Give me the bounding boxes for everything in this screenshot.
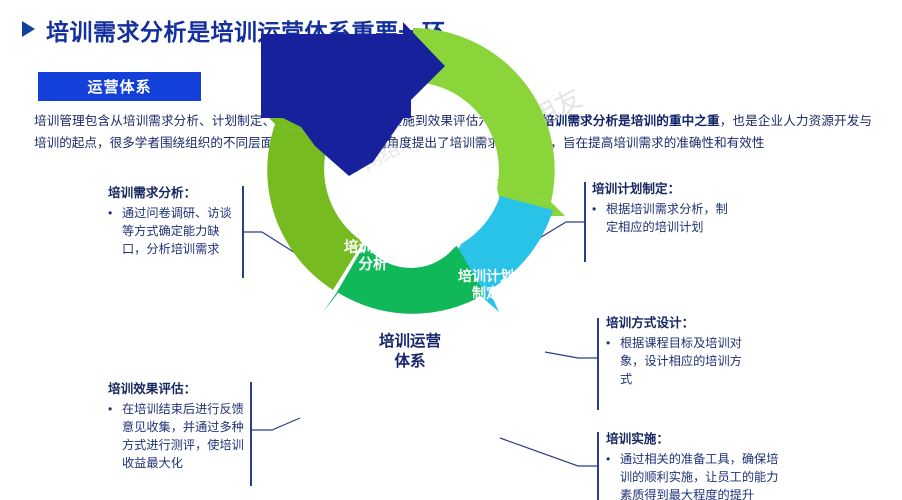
callout-way-text: 根据课程目标及培训对象，设计相应的培训方式: [620, 334, 751, 388]
segment-need-block: [261, 34, 411, 118]
callout-need-title: 培训需求分析：: [108, 182, 236, 201]
wheel-label-way-line2: 设计: [468, 395, 554, 412]
triangle-right-icon: [22, 21, 35, 37]
callout-bar-plan: [584, 182, 586, 262]
wheel-label-plan-line2: 制定: [440, 285, 532, 302]
wheel-label-plan: 培训计划 制定: [440, 268, 532, 302]
callout-eval-title: 培训效果评估：: [108, 378, 244, 397]
wheel-label-need-line1: 培训需求: [318, 240, 428, 257]
callout-bar-eval: [250, 382, 252, 486]
callout-bar-impl: [597, 432, 599, 500]
callout-impl-bullet: •: [606, 450, 620, 500]
callout-plan-text: 根据培训需求分析，制定相应的培训计划: [606, 200, 732, 236]
callout-impl-title: 培训实施：: [606, 428, 786, 447]
wheel-label-need-line2: 分析: [318, 257, 428, 274]
callout-eval-text: 在培训结束后进行反馈意见收集，并通过多种方式进行测评，使培训收益最大化: [122, 400, 244, 472]
callout-bar-need: [242, 186, 244, 278]
wheel-center-label: 培训运营 体系: [360, 332, 460, 372]
callout-plan-title: 培训计划制定：: [592, 178, 732, 197]
callout-eval: 培训效果评估： • 在培训结束后进行反馈意见收集，并通过多种方式进行测评，使培训…: [108, 378, 244, 472]
callout-way-bullet: •: [606, 334, 620, 388]
wheel-label-eval: 培训效果 评估: [284, 338, 368, 372]
callout-bar-way: [597, 318, 599, 410]
wheel-label-way: 培训方式 设计: [468, 378, 554, 412]
callout-impl-text: 通过相关的准备工具，确保培训的顺利实施，让员工的能力素质得到最大程度的提升: [620, 450, 786, 500]
callout-way: 培训方式设计： • 根据课程目标及培训对象，设计相应的培训方式: [606, 312, 751, 388]
wheel-label-impl-line1: 培训实施: [352, 440, 458, 457]
callout-way-title: 培训方式设计：: [606, 312, 751, 331]
wheel-label-need: 培训需求 分析: [318, 240, 428, 274]
callout-eval-bullet: •: [108, 400, 122, 472]
callout-plan: 培训计划制定： • 根据培训需求分析，制定相应的培训计划: [592, 178, 732, 236]
wheel-label-plan-line1: 培训计划: [440, 268, 532, 285]
wheel-label-impl: 培训实施: [352, 440, 458, 457]
callout-need-text: 通过问卷调研、访谈等方式确定能力缺口，分析培训需求: [122, 204, 236, 258]
callout-plan-bullet: •: [592, 200, 606, 236]
section-badge: 运营体系: [38, 72, 201, 101]
wheel-label-way-line1: 培训方式: [468, 378, 554, 395]
callout-need-bullet: •: [108, 204, 122, 258]
callout-impl: 培训实施： • 通过相关的准备工具，确保培训的顺利实施，让员工的能力素质得到最大…: [606, 428, 786, 500]
wheel-center-line2: 体系: [360, 352, 460, 372]
wheel-center-line1: 培训运营: [360, 332, 460, 352]
callout-need: 培训需求分析： • 通过问卷调研、访谈等方式确定能力缺口，分析培训需求: [108, 182, 236, 258]
wheel-label-eval-line2: 评估: [284, 355, 368, 372]
slide-root: 培训需求分析是培训运营体系重要一环 运营体系 培训管理包含从培训需求分析、计划制…: [0, 0, 902, 500]
wheel-label-eval-line1: 培训效果: [284, 338, 368, 355]
section-badge-label: 运营体系: [87, 76, 151, 97]
